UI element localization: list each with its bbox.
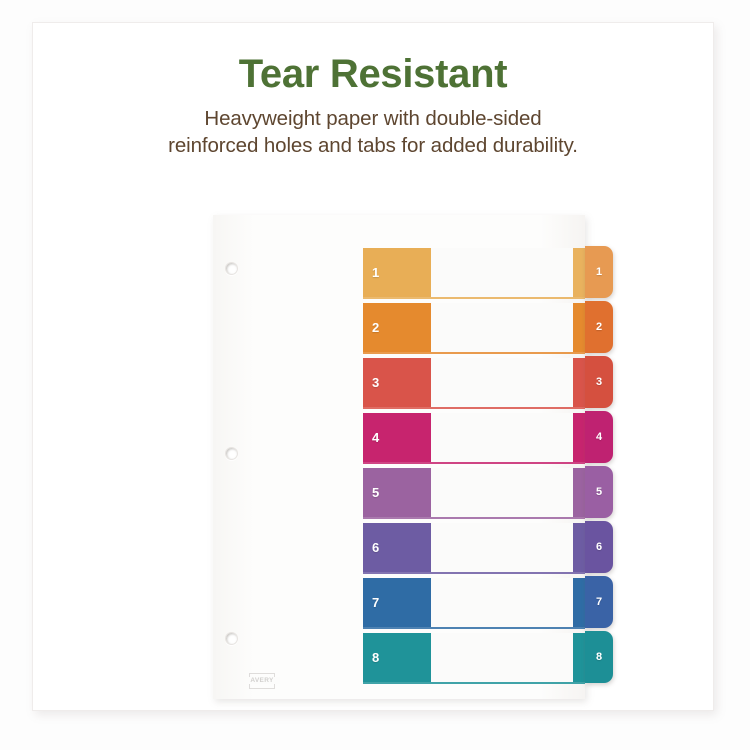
- divider-edge-band: [573, 633, 585, 682]
- divider-tab-rows: 1122334455667788: [213, 215, 613, 699]
- divider-number-block: 8: [363, 633, 431, 682]
- divider-tab-number: 2: [596, 322, 602, 333]
- divider-tab[interactable]: 3: [585, 356, 613, 408]
- divider-number-block: 2: [363, 303, 431, 352]
- divider-tab-number: 4: [596, 432, 602, 443]
- divider-write-strip: [431, 578, 585, 627]
- divider-write-strip: [431, 633, 585, 682]
- divider-row-underline: [363, 572, 585, 574]
- divider-edge-band: [573, 523, 585, 572]
- divider-row: 77: [213, 578, 613, 633]
- divider-tab-number: 7: [596, 597, 602, 608]
- divider-edge-band: [573, 358, 585, 407]
- divider-write-strip: [431, 248, 585, 297]
- divider-tab[interactable]: 8: [585, 631, 613, 683]
- divider-tab-number: 8: [596, 652, 602, 663]
- divider-tab[interactable]: 2: [585, 301, 613, 353]
- divider-row-underline: [363, 407, 585, 409]
- divider-tab[interactable]: 4: [585, 411, 613, 463]
- divider-write-strip: [431, 413, 585, 462]
- divider-tab[interactable]: 1: [585, 246, 613, 298]
- divider-row: 55: [213, 468, 613, 523]
- divider-row-underline: [363, 517, 585, 519]
- divider-row: 22: [213, 303, 613, 358]
- divider-number-label: 8: [372, 651, 379, 664]
- divider-number-block: 5: [363, 468, 431, 517]
- divider-edge-band: [573, 303, 585, 352]
- divider-edge-band: [573, 413, 585, 462]
- page-title: Tear Resistant: [33, 53, 713, 95]
- divider-row-underline: [363, 297, 585, 299]
- divider-tab[interactable]: 5: [585, 466, 613, 518]
- divider-row: 44: [213, 413, 613, 468]
- divider-write-strip: [431, 523, 585, 572]
- avery-logo: AVERY: [244, 673, 280, 690]
- divider-tab[interactable]: 7: [585, 576, 613, 628]
- divider-row-underline: [363, 682, 585, 684]
- divider-edge-band: [573, 248, 585, 297]
- divider-edge-band: [573, 468, 585, 517]
- divider-number-label: 7: [372, 596, 379, 609]
- page-subtitle-line-1: Heavyweight paper with double-sided: [113, 106, 633, 133]
- divider-number-block: 1: [363, 248, 431, 297]
- divider-number-label: 3: [372, 376, 379, 389]
- divider-row: 11: [213, 248, 613, 303]
- divider-row: 66: [213, 523, 613, 578]
- divider-write-strip: [431, 468, 585, 517]
- avery-logo-wordmark: AVERY: [244, 677, 280, 684]
- divider-number-label: 5: [372, 486, 379, 499]
- screenshot-stage: Tear Resistant Heavyweight paper with do…: [0, 0, 750, 750]
- page-subtitle-line-2: reinforced holes and tabs for added dura…: [113, 133, 633, 160]
- headline-block: Tear Resistant Heavyweight paper with do…: [33, 53, 713, 159]
- divider-tab-number: 6: [596, 542, 602, 553]
- divider-number-label: 6: [372, 541, 379, 554]
- divider-number-block: 7: [363, 578, 431, 627]
- divider-number-block: 6: [363, 523, 431, 572]
- divider-edge-band: [573, 578, 585, 627]
- divider-number-block: 4: [363, 413, 431, 462]
- divider-write-strip: [431, 303, 585, 352]
- divider-row: 33: [213, 358, 613, 413]
- divider-number-label: 1: [372, 266, 379, 279]
- divider-row-underline: [363, 627, 585, 629]
- divider-tab[interactable]: 6: [585, 521, 613, 573]
- divider-row-underline: [363, 462, 585, 464]
- divider-number-label: 4: [372, 431, 379, 444]
- divider-number-label: 2: [372, 321, 379, 334]
- page-subtitle: Heavyweight paper with double-sided rein…: [113, 106, 633, 159]
- divider-tab-number: 1: [596, 267, 602, 278]
- divider-write-strip: [431, 358, 585, 407]
- divider-tab-number: 5: [596, 487, 602, 498]
- product-image-card: Tear Resistant Heavyweight paper with do…: [32, 22, 714, 711]
- divider-row-underline: [363, 352, 585, 354]
- divider-tab-number: 3: [596, 377, 602, 388]
- divider-number-block: 3: [363, 358, 431, 407]
- divider-sheet-illustration: 1122334455667788 AVERY: [213, 215, 613, 701]
